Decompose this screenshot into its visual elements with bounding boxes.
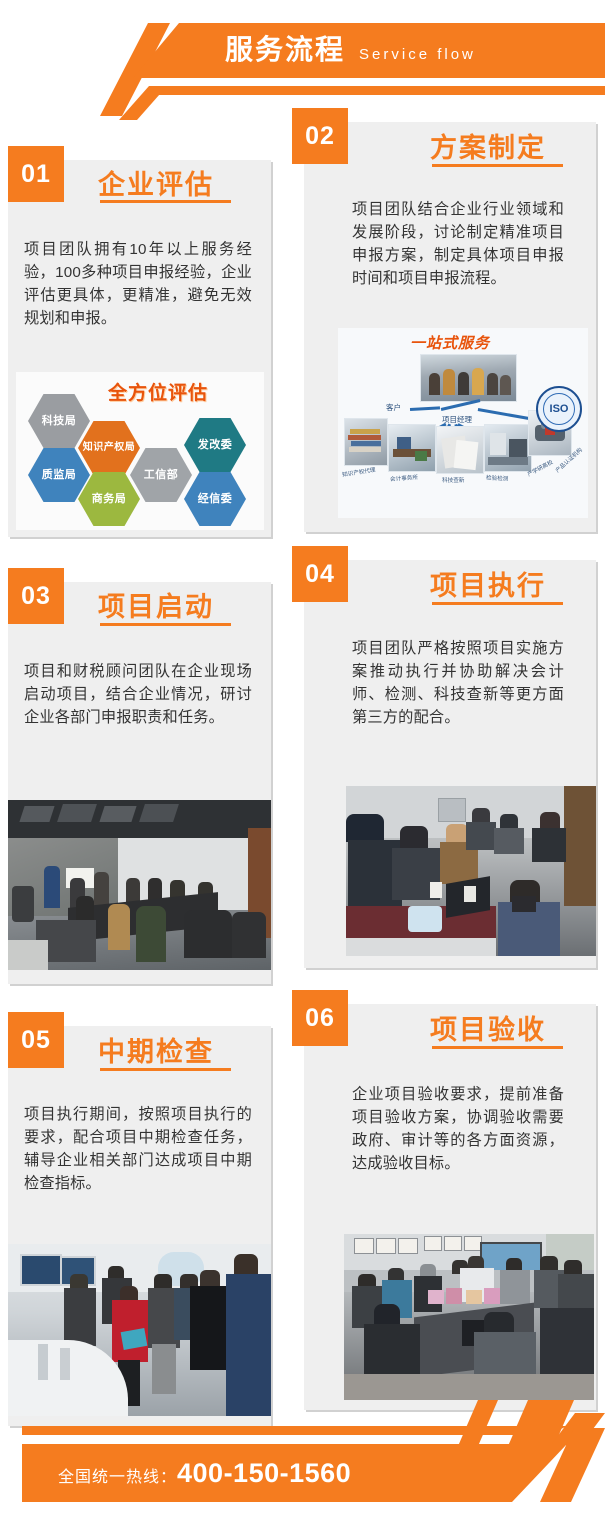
card-04-title-rule bbox=[432, 602, 563, 605]
hex-node-fagaiwei: 发改委 bbox=[184, 418, 246, 472]
footer-banner-tail bbox=[540, 1428, 605, 1502]
card-04-number-badge: 04 bbox=[292, 546, 348, 602]
card-04-body: 项目团队严格按照项目实施方案推动执行并协助解决会计师、检测、科技查新等更方面第三… bbox=[352, 637, 564, 729]
footer-hotline-group: 全国统一热线： 400-150-1560 bbox=[58, 1458, 351, 1493]
card-05-number-badge: 05 bbox=[8, 1012, 64, 1068]
card-01-title: 企业评估 bbox=[98, 163, 214, 202]
hex-node-shangwuju: 商务局 bbox=[78, 472, 140, 526]
hex-node-kejiju: 科技局 bbox=[28, 394, 90, 448]
diagram-title: 全方位评估 bbox=[108, 378, 208, 405]
page-footer: 全国统一热线： 400-150-1560 bbox=[0, 1408, 605, 1538]
oss-label-accounting-firm: 会计事务所 bbox=[390, 473, 418, 483]
card-03-title: 项目启动 bbox=[98, 585, 214, 624]
card-01-number-badge: 01 bbox=[8, 146, 64, 202]
card-01-title-rule bbox=[100, 200, 231, 203]
footer-accent-line bbox=[22, 1426, 567, 1435]
card-04-title: 项目执行 bbox=[430, 564, 546, 603]
hex-node-gongxinbu: 工信部 bbox=[130, 448, 192, 502]
card-04-photo bbox=[346, 786, 596, 956]
oss-label-ip-agency: 知识产权代理 bbox=[342, 465, 376, 478]
header-accent-line bbox=[146, 86, 605, 95]
oss-label-tech-search: 科技查新 bbox=[442, 476, 464, 484]
page-subtitle: Service flow bbox=[359, 35, 476, 75]
oss-label-inspection-testing: 检验检测 bbox=[486, 473, 509, 482]
thumb-inspection-testing bbox=[484, 424, 532, 472]
hotline-label: 全国统一热线： bbox=[58, 1463, 177, 1493]
card-01-assessment-diagram: 全方位评估 科技局 知识产权局 质监局 商务局 工信部 发改委 经信委 bbox=[16, 372, 264, 530]
card-05-title: 中期检查 bbox=[98, 1030, 214, 1069]
card-03-number-badge: 03 bbox=[8, 568, 64, 624]
thumb-team-meeting bbox=[420, 354, 517, 402]
card-03-title-rule bbox=[100, 623, 231, 626]
card-02-one-stop-service-diagram: 一站式服务 客户 项目经理 bbox=[338, 328, 588, 518]
iso-badge: ISO bbox=[536, 386, 582, 432]
card-06-title: 项目验收 bbox=[430, 1008, 546, 1047]
diagram-title: 一站式服务 bbox=[410, 332, 490, 353]
card-02-body: 项目团队结合企业行业领域和发展阶段，讨论制定精准项目申报方案，制定具体项目申报时… bbox=[352, 198, 564, 290]
card-01-body: 项目团队拥有10年以上服务经验，100多种项目申报经验，企业评估更具体，更精准，… bbox=[24, 238, 252, 330]
card-05-title-rule bbox=[100, 1068, 231, 1071]
oss-arrow-1 bbox=[410, 406, 440, 410]
card-05-body: 项目执行期间，按照项目执行的要求，配合项目中期检查任务，辅导企业相关部门达成项目… bbox=[24, 1103, 252, 1195]
card-02-number-badge: 02 bbox=[292, 108, 348, 164]
hotline-number[interactable]: 400-150-1560 bbox=[177, 1458, 351, 1488]
card-02-title: 方案制定 bbox=[430, 126, 546, 165]
thumb-tech-search bbox=[436, 426, 484, 474]
infographic-page: 服务流程 Service flow 01 企业评估 项目团队拥有10年以上服务经… bbox=[0, 0, 605, 1538]
card-06-photo bbox=[344, 1234, 594, 1400]
card-06-body: 企业项目验收要求，提前准备项目验收方案，协调验收需要政府、审计等的各方面资源，达… bbox=[352, 1083, 564, 1175]
thumb-ip-agency bbox=[344, 418, 388, 466]
hex-node-jingxinwei: 经信委 bbox=[184, 472, 246, 526]
card-03-body: 项目和财税顾问团队在企业现场启动项目，结合企业情况，研讨企业各部门申报职责和任务… bbox=[24, 660, 252, 729]
header-title-group: 服务流程 Service flow bbox=[225, 30, 476, 75]
page-header: 服务流程 Service flow bbox=[0, 0, 605, 110]
hex-node-zhijianju: 质监局 bbox=[28, 448, 90, 502]
card-02-title-rule bbox=[432, 164, 563, 167]
card-06-number-badge: 06 bbox=[292, 990, 348, 1046]
card-06-title-rule bbox=[432, 1046, 563, 1049]
card-03-photo bbox=[8, 800, 271, 970]
hex-node-zhishichanquanju: 知识产权局 bbox=[78, 421, 140, 475]
thumb-accounting-firm bbox=[388, 424, 436, 472]
card-05-photo bbox=[8, 1244, 271, 1416]
page-title: 服务流程 bbox=[225, 30, 345, 70]
oss-label-customer: 客户 bbox=[386, 402, 401, 413]
